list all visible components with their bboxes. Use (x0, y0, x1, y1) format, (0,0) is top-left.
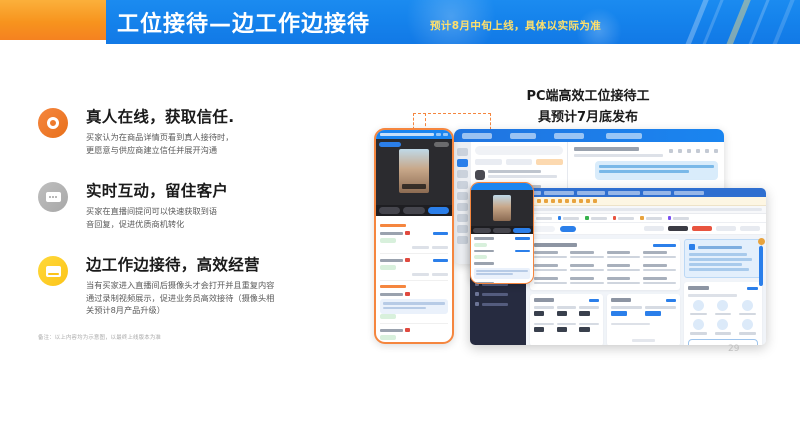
stats-card[interactable] (530, 239, 680, 290)
footnote: 备注：以上内容均为示意图，以最终上线版本为准 (38, 333, 161, 341)
live-video-area (471, 190, 533, 226)
feature-title: 边工作边接待，高效经营 (86, 252, 358, 275)
chat-contact-sub (574, 154, 663, 157)
viewer-count-badge (434, 142, 449, 147)
mobile-statusbar (376, 130, 452, 139)
presenter-thumbnail (493, 195, 511, 221)
dashboard-main (526, 235, 766, 345)
mockup-annotation: PC端高效工位接待工 具预计7月底发布 (488, 86, 688, 128)
monitor-icon (38, 256, 68, 286)
metric-card[interactable] (530, 294, 603, 345)
mobile-live-preview[interactable] (374, 128, 454, 344)
product-mockup: PC端高效工位接待工 具预计7月底发布 (368, 80, 788, 350)
navbar-link[interactable] (692, 226, 712, 231)
feature-description: 买家认为在商品详情页看到真人接待时， 更愿意与供应商建立信任并展开沟通 (86, 131, 286, 156)
chat-bubble-icon (38, 182, 68, 212)
slide-header: 工位接待—边工作边接待 预计8月中旬上线，具体以实际为准 (0, 0, 800, 47)
quick-action-tile[interactable] (688, 319, 709, 335)
list-item[interactable] (475, 170, 563, 180)
scrollbar[interactable] (759, 246, 763, 286)
mobile-statusbar (471, 183, 533, 190)
decorative-stripe (671, 0, 717, 44)
presenter-thumbnail (399, 149, 429, 193)
live-badge (379, 142, 401, 147)
navbar-link[interactable] (716, 226, 736, 231)
quick-action-tile[interactable] (688, 300, 709, 316)
feature-description: 买家在直播间提问可以快速获取到语 音回复，促进优质商机转化 (86, 205, 286, 230)
navbar-link[interactable] (668, 226, 688, 231)
list-item[interactable] (474, 282, 530, 285)
page-title: 工位接待—边工作边接待 (117, 6, 370, 38)
scroll-indicator-dot (758, 238, 765, 245)
quick-action-tile[interactable] (737, 300, 758, 316)
feature-item-1: 真人在线，获取信任. 买家认为在商品详情页看到真人接待时， 更愿意与供应商建立信… (38, 104, 358, 170)
mobile-content (471, 234, 533, 284)
list-item[interactable] (380, 258, 448, 281)
feature-desc-line: 音回复，促进优质商机转化 (86, 218, 286, 231)
feature-item-2: 实时互动，留住客户 买家在直播间提问可以快速获取到语 音回复，促进优质商机转化 (38, 178, 358, 244)
feature-desc-line: 通过录制视频展示，促进业务员高效接待（摄像头相 (86, 292, 286, 305)
feature-item-3: 边工作边接待，高效经营 当有买家进入直播间后摄像头才会打开并且重复内容 通过录制… (38, 252, 358, 318)
annotation-line: PC端高效工位接待工 (488, 86, 688, 107)
list-item[interactable] (474, 237, 530, 240)
section-heading (380, 224, 406, 227)
quick-action-tile[interactable] (737, 319, 758, 335)
list-item[interactable] (474, 250, 530, 253)
feature-desc-line: 买家在直播间提问可以快速获取到语 (86, 205, 286, 218)
live-action-buttons[interactable] (471, 226, 533, 234)
filter-chips[interactable] (475, 159, 563, 165)
feature-description: 当有买家进入直播间后摄像头才会打开并且重复内容 通过录制视频展示，促进业务员高效… (86, 279, 286, 317)
more-button[interactable] (688, 339, 758, 346)
quick-actions-card[interactable] (684, 282, 762, 345)
feature-list: 真人在线，获取信任. 买家认为在商品详情页看到真人接待时， 更愿意与供应商建立信… (38, 104, 358, 326)
header-subtitle: 预计8月中旬上线，具体以实际为准 (430, 18, 601, 33)
live-video-area (376, 139, 452, 205)
feature-desc-line: 关预计8月产品升级） (86, 304, 286, 317)
header-orange-block (0, 0, 106, 40)
feature-desc-line: 买家认为在商品详情页看到真人接待时， (86, 131, 286, 144)
app-sidebar-rail[interactable] (454, 142, 471, 264)
list-item[interactable] (380, 231, 448, 254)
live-action-buttons[interactable] (376, 205, 452, 216)
quick-action-tile[interactable] (713, 319, 734, 335)
quick-action-tile[interactable] (713, 300, 734, 316)
feature-title: 真人在线，获取信任. (86, 104, 358, 127)
window-titlebar (454, 129, 724, 142)
search-input[interactable] (475, 146, 563, 155)
company-card[interactable] (684, 239, 762, 278)
chat-toolbar[interactable] (574, 149, 718, 153)
feature-title: 实时互动，留住客户 (86, 178, 358, 201)
mobile-overlay-preview[interactable] (470, 182, 534, 284)
list-item[interactable] (380, 292, 448, 324)
search-button[interactable] (560, 226, 576, 232)
list-item[interactable] (474, 262, 530, 265)
right-panel (684, 239, 762, 345)
annotation-line: 具预计7月底发布 (488, 107, 688, 128)
navbar-link[interactable] (740, 226, 760, 231)
record-ring-icon (38, 108, 68, 138)
mobile-content (376, 216, 452, 344)
feature-desc-line: 更愿意与供应商建立信任并展开沟通 (86, 144, 286, 157)
feature-desc-line: 当有买家进入直播间后摄像头才会打开并且重复内容 (86, 279, 286, 292)
chart-card[interactable] (607, 294, 680, 345)
list-item[interactable] (380, 328, 448, 344)
slide: 工位接待—边工作边接待 预计8月中旬上线，具体以实际为准 真人在线，获取信任. … (0, 0, 800, 427)
section-heading (380, 285, 406, 288)
chat-message (595, 161, 718, 180)
navbar-link[interactable] (644, 226, 664, 231)
page-number: 29 (728, 344, 739, 354)
